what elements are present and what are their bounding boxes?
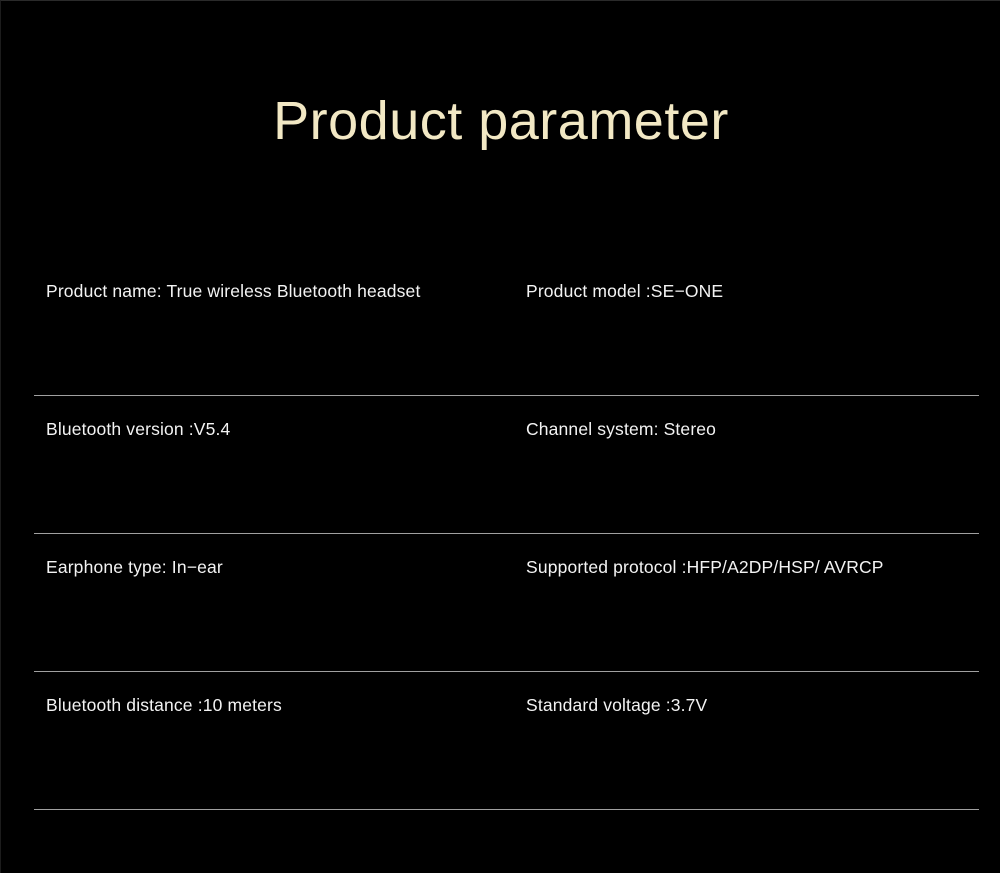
spec-product-model: Product model :SE−ONE <box>526 279 723 303</box>
spec-supported-protocol: Supported protocol :HFP/A2DP/HSP/ AVRCP <box>526 555 884 579</box>
spec-earphone-type: Earphone type: In−ear <box>46 555 223 579</box>
spec-bluetooth-distance: Bluetooth distance :10 meters <box>46 693 282 717</box>
table-row: Bluetooth version :V5.4 Channel system: … <box>1 396 1000 534</box>
spec-channel-system: Channel system: Stereo <box>526 417 716 441</box>
table-row: Product name: True wireless Bluetooth he… <box>1 258 1000 396</box>
spec-product-name: Product name: True wireless Bluetooth he… <box>46 279 420 303</box>
table-row: Earphone type: In−ear Supported protocol… <box>1 534 1000 672</box>
spec-standard-voltage: Standard voltage :3.7V <box>526 693 707 717</box>
spec-bluetooth-version: Bluetooth version :V5.4 <box>46 417 230 441</box>
product-parameter-page: Product parameter Product name: True wir… <box>0 0 1000 873</box>
page-title: Product parameter <box>1 93 1000 150</box>
specification-table: Product name: True wireless Bluetooth he… <box>1 258 1000 810</box>
row-divider <box>34 809 979 810</box>
table-row: Bluetooth distance :10 meters Standard v… <box>1 672 1000 810</box>
